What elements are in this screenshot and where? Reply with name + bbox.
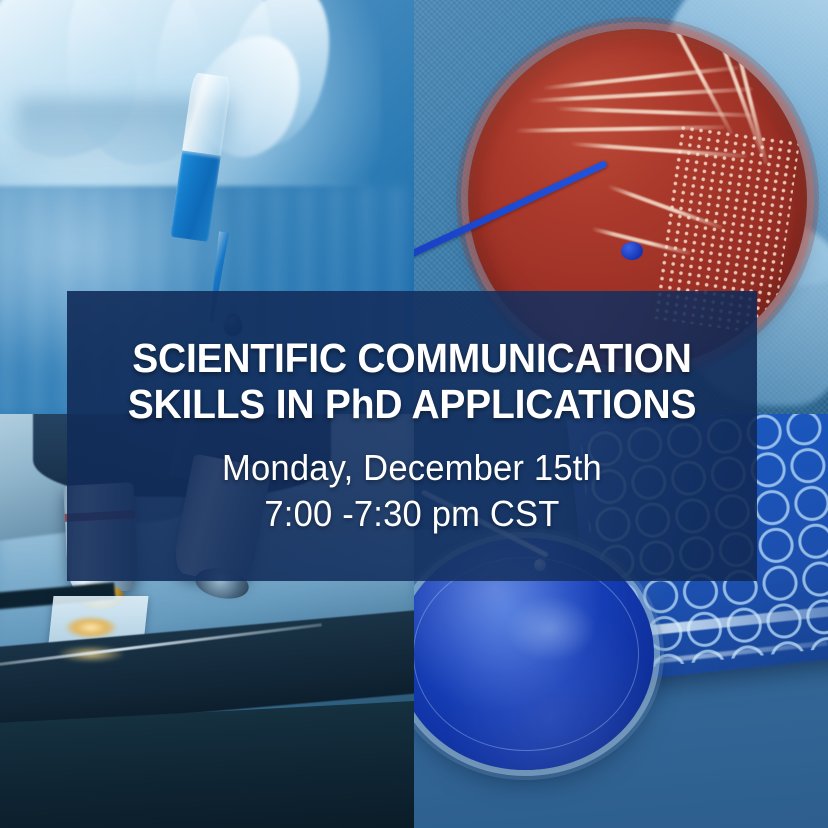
illuminated-specimen-spot [66, 617, 116, 638]
liquid-ripple [505, 596, 596, 662]
event-title: SCIENTIFIC COMMUNICATION SKILLS IN PhD A… [67, 335, 757, 428]
event-title-line-1: SCIENTIFIC COMMUNICATION [84, 335, 740, 381]
event-schedule: Monday, December 15th 7:00 -7:30 pm CST [67, 445, 757, 537]
event-info-overlay: SCIENTIFIC COMMUNICATION SKILLS IN PhD A… [67, 291, 757, 581]
event-poster: SCIENTIFIC COMMUNICATION SKILLS IN PhD A… [0, 0, 828, 828]
event-date: Monday, December 15th [81, 445, 743, 491]
microscope-stage-body [0, 700, 414, 828]
event-title-line-2: SKILLS IN PhD APPLICATIONS [84, 381, 740, 427]
event-time: 7:00 -7:30 pm CST [81, 491, 743, 537]
